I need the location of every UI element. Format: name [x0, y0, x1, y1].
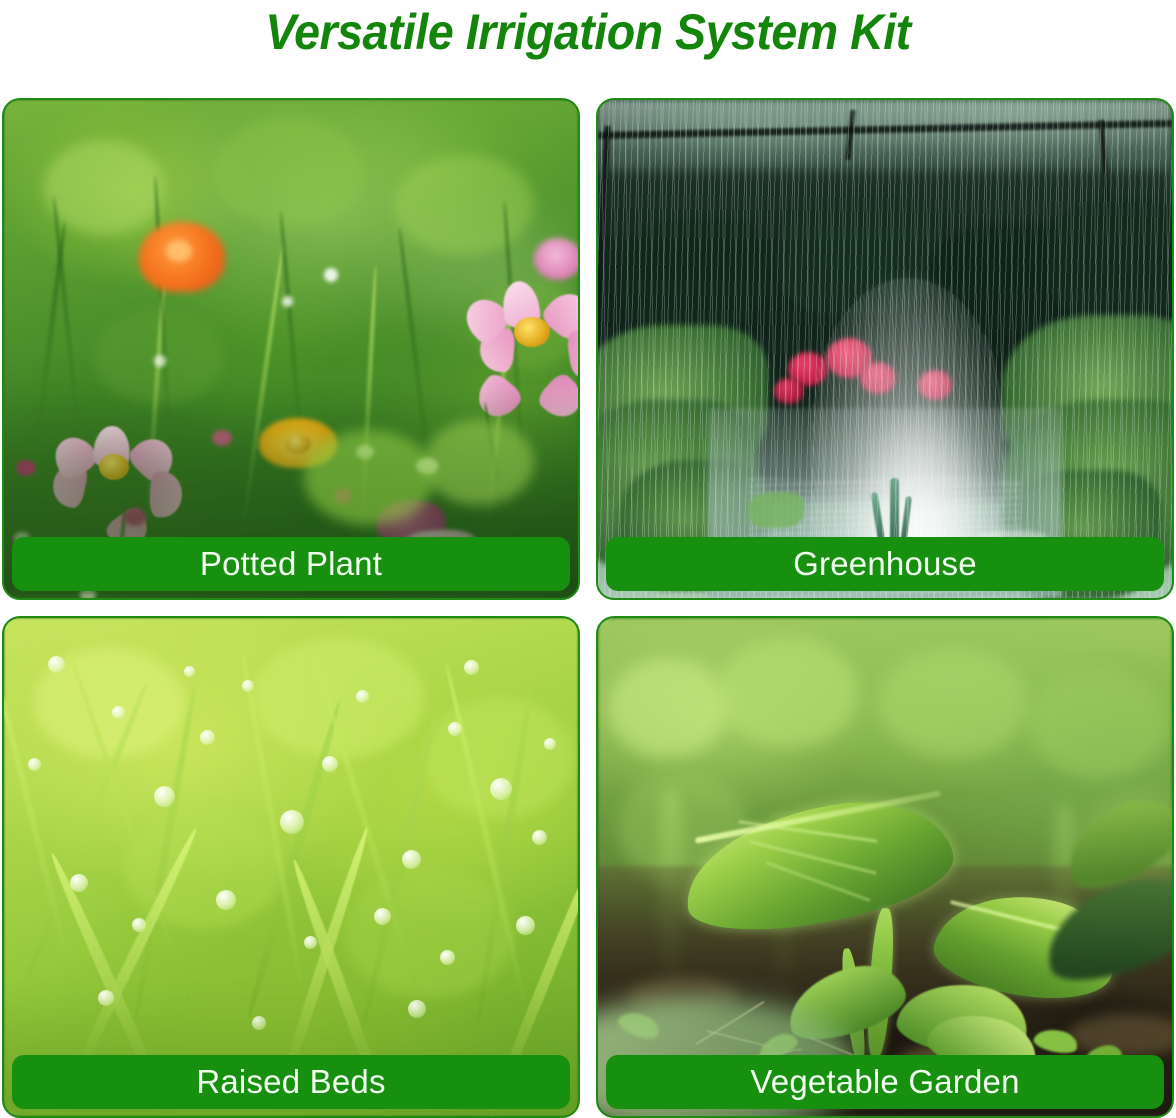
page-title: Versatile Irrigation System Kit: [41, 0, 1135, 66]
card-label-bar: Potted Plant: [12, 537, 570, 591]
card-label: Potted Plant: [200, 545, 382, 583]
card-label-bar: Greenhouse: [606, 537, 1164, 591]
card-label: Raised Beds: [196, 1063, 385, 1101]
scene-card-raised-beds[interactable]: Raised Beds: [2, 616, 580, 1118]
card-label: Vegetable Garden: [750, 1063, 1019, 1101]
greenhouse-photo: [598, 100, 1172, 598]
scene-card-potted-plant[interactable]: Potted Plant: [2, 98, 580, 600]
dewy-grass-photo: [4, 618, 578, 1116]
meadow-photo: [4, 100, 578, 598]
card-label-bar: Vegetable Garden: [606, 1055, 1164, 1109]
scene-card-vegetable-garden[interactable]: Vegetable Garden: [596, 616, 1174, 1118]
scene-card-grid: Potted Plant: [2, 98, 1174, 1116]
card-label-bar: Raised Beds: [12, 1055, 570, 1109]
product-infographic: Versatile Irrigation System Kit: [0, 0, 1176, 1118]
card-label: Greenhouse: [793, 545, 977, 583]
scene-card-greenhouse[interactable]: Greenhouse: [596, 98, 1174, 600]
vegetable-garden-photo: [598, 618, 1172, 1116]
